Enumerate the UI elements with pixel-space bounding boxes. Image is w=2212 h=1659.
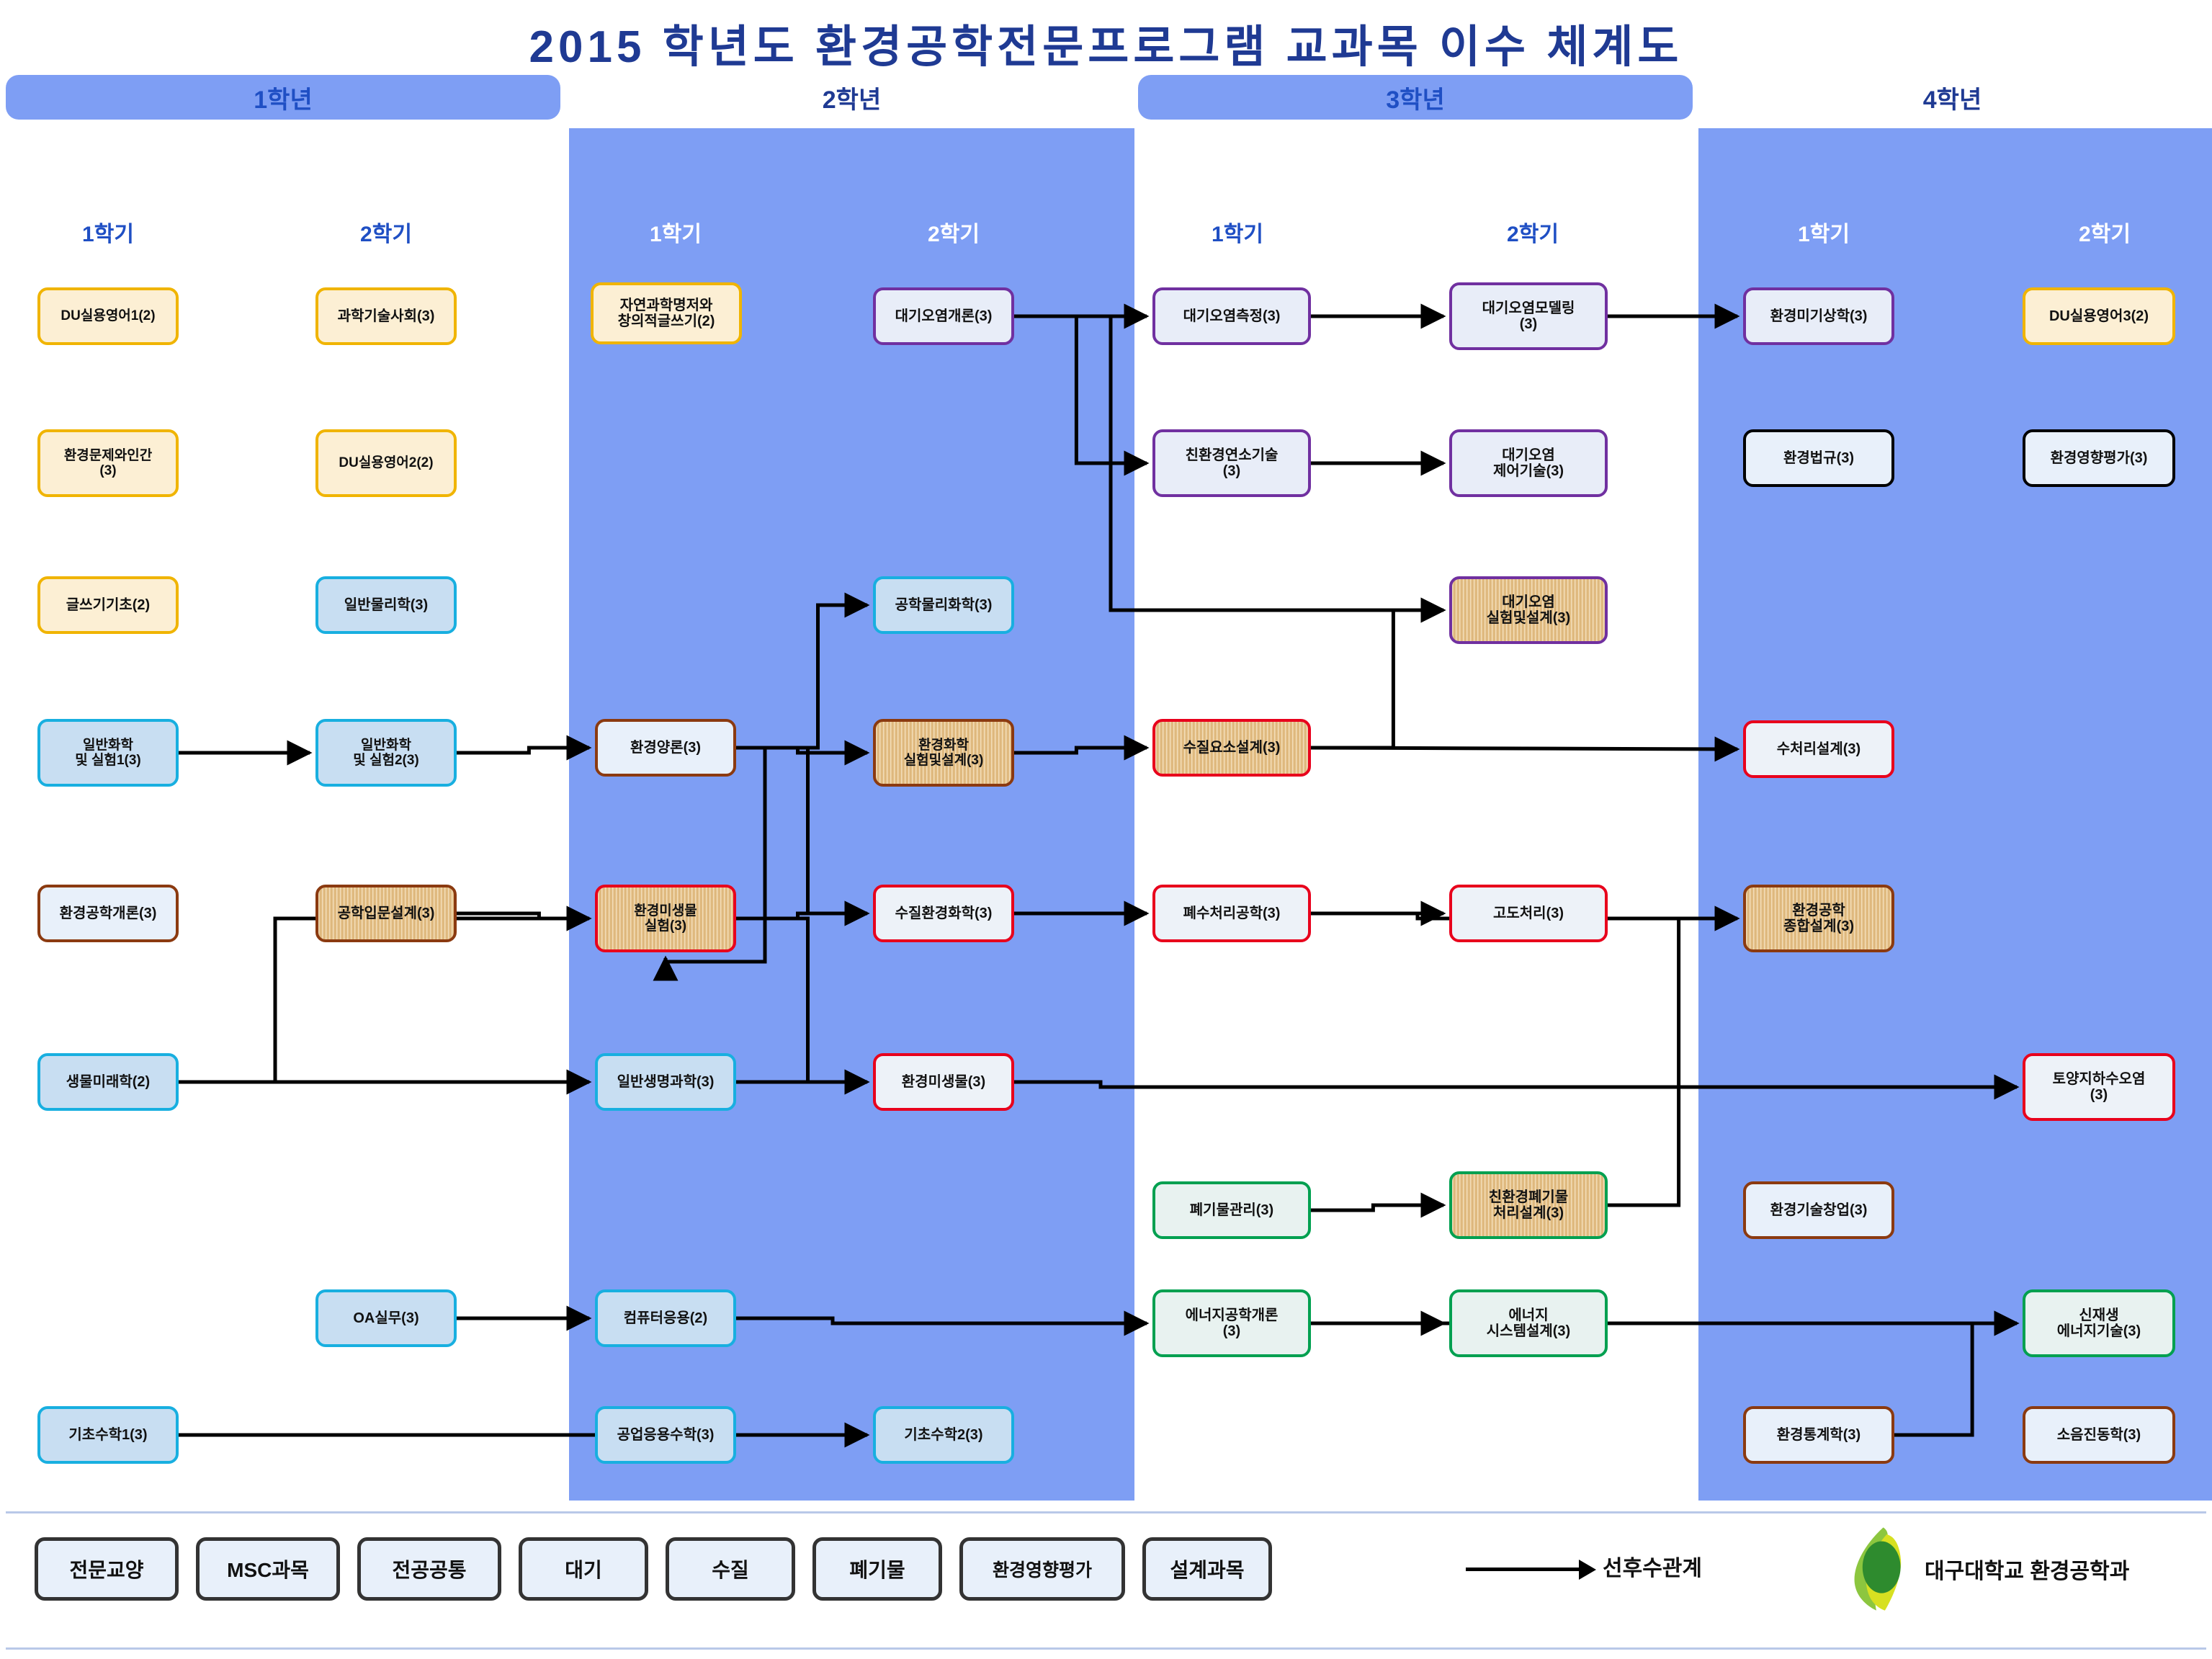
course-label: 자연과학명저와창의적글쓰기(2) bbox=[618, 298, 715, 330]
course-label: 환경통계학(3) bbox=[1777, 1427, 1861, 1443]
prereq-arrow bbox=[1014, 1082, 2017, 1087]
course-box-ecowaste[interactable]: 친환경폐기물처리설계(3) bbox=[1449, 1171, 1608, 1239]
course-box-engphyschem[interactable]: 공학물리화학(3) bbox=[873, 576, 1014, 634]
course-label: 소음진동학(3) bbox=[2057, 1427, 2141, 1443]
prereq-arrow bbox=[1014, 748, 1147, 753]
course-box-waterchem[interactable]: 수질환경화학(3) bbox=[873, 885, 1014, 942]
course-label: 환경미생물실험(3) bbox=[634, 903, 697, 934]
course-label: 신재생에너지기술(3) bbox=[2057, 1307, 2141, 1340]
course-label: DU실용영어2(2) bbox=[339, 455, 433, 470]
course-label: 폐기물관리(3) bbox=[1190, 1202, 1273, 1218]
course-label: 일반화학및 실험1(3) bbox=[75, 738, 141, 769]
course-box-airintro[interactable]: 대기오염개론(3) bbox=[873, 287, 1014, 345]
course-label: 환경화학실험및설계(3) bbox=[904, 738, 984, 769]
course-label: 일반생명과학(3) bbox=[617, 1074, 715, 1090]
course-box-genchem1[interactable]: 일반화학및 실험1(3) bbox=[37, 719, 179, 787]
prereq-arrow bbox=[1608, 918, 1737, 1205]
course-box-energyintro[interactable]: 에너지공학개론(3) bbox=[1152, 1289, 1311, 1357]
course-label: 글쓰기기초(2) bbox=[66, 597, 150, 613]
course-box-ecocomb[interactable]: 친환경연소기술(3) bbox=[1152, 429, 1311, 497]
course-label: 대기오염제어기술(3) bbox=[1493, 447, 1564, 480]
course-box-advtreat[interactable]: 고도처리(3) bbox=[1449, 885, 1608, 942]
prereq-arrow bbox=[457, 748, 589, 753]
course-box-aircontrol[interactable]: 대기오염제어기술(3) bbox=[1449, 429, 1608, 497]
course-box-envhuman[interactable]: 환경문제와인간(3) bbox=[37, 429, 179, 497]
curriculum-flowchart: 2015 학년도 환경공학전문프로그램 교과목 이수 체계도 1학년 2학년 3… bbox=[0, 0, 2212, 1659]
course-label: 환경미생물(3) bbox=[902, 1074, 985, 1090]
course-box-capstone[interactable]: 환경공학종합설계(3) bbox=[1743, 885, 1894, 952]
course-label: 에너지공학개론(3) bbox=[1186, 1307, 1279, 1340]
course-label: 친환경폐기물처리설계(3) bbox=[1489, 1189, 1568, 1222]
course-label: 친환경연소기술(3) bbox=[1186, 447, 1279, 480]
course-box-startup[interactable]: 환경기술창업(3) bbox=[1743, 1181, 1894, 1239]
course-label: 에너지시스템설계(3) bbox=[1487, 1307, 1570, 1340]
course-box-computer[interactable]: 컴퓨터응용(2) bbox=[595, 1289, 736, 1347]
course-label: 토양지하수오염(3) bbox=[2053, 1071, 2146, 1104]
prereq-arrow bbox=[1014, 316, 1147, 463]
course-label: 환경공학종합설계(3) bbox=[1783, 903, 1854, 935]
course-box-envmicexp[interactable]: 환경미생물실험(3) bbox=[595, 885, 736, 952]
course-label: 환경영향평가(3) bbox=[2051, 450, 2148, 466]
course-box-genchem2[interactable]: 일반화학및 실험2(3) bbox=[315, 719, 457, 787]
prereq-arrow bbox=[179, 918, 589, 1082]
course-box-soilgw[interactable]: 토양지하수오염(3) bbox=[2023, 1053, 2175, 1121]
course-box-du3[interactable]: DU실용영어3(2) bbox=[2023, 287, 2175, 345]
course-box-envstat[interactable]: 환경통계학(3) bbox=[1743, 1406, 1894, 1464]
course-box-envchemexp[interactable]: 환경화학실험및설계(3) bbox=[873, 719, 1014, 787]
prereq-arrow bbox=[736, 748, 867, 913]
course-box-basicmath2[interactable]: 기초수학2(3) bbox=[873, 1406, 1014, 1464]
course-label: 기초수학1(3) bbox=[68, 1427, 147, 1443]
course-label: 수처리설계(3) bbox=[1777, 741, 1861, 757]
course-label: 환경공학개론(3) bbox=[60, 905, 157, 921]
course-box-wastemgmt[interactable]: 폐기물관리(3) bbox=[1152, 1181, 1311, 1239]
course-box-wastewater[interactable]: 폐수처리공학(3) bbox=[1152, 885, 1311, 942]
course-label: 기초수학2(3) bbox=[904, 1427, 982, 1443]
prereq-arrow bbox=[736, 918, 867, 1082]
course-label: 대기오염실험및설계(3) bbox=[1487, 594, 1570, 627]
course-box-basicmath1[interactable]: 기초수학1(3) bbox=[37, 1406, 179, 1464]
course-box-renewable[interactable]: 신재생에너지기술(3) bbox=[2023, 1289, 2175, 1357]
course-box-eia[interactable]: 환경영향평가(3) bbox=[2023, 429, 2175, 487]
course-box-oa[interactable]: OA실무(3) bbox=[315, 1289, 457, 1347]
prereq-arrow bbox=[736, 605, 867, 748]
course-label: 공학물리화학(3) bbox=[895, 597, 993, 613]
course-label: 일반물리학(3) bbox=[344, 597, 428, 613]
course-label: 환경기술창업(3) bbox=[1770, 1202, 1868, 1218]
course-label: 대기오염측정(3) bbox=[1183, 308, 1281, 324]
course-label: 환경양론(3) bbox=[630, 740, 701, 756]
course-label: DU실용영어1(2) bbox=[61, 308, 155, 323]
prereq-arrow bbox=[1311, 1205, 1443, 1210]
course-box-airmeasure[interactable]: 대기오염측정(3) bbox=[1152, 287, 1311, 345]
course-label: 고도처리(3) bbox=[1493, 905, 1564, 921]
course-label: 대기오염개론(3) bbox=[895, 308, 993, 324]
course-label: 폐수처리공학(3) bbox=[1183, 905, 1281, 921]
course-label: 환경법규(3) bbox=[1783, 450, 1854, 466]
course-label: 수질환경화학(3) bbox=[895, 905, 993, 921]
course-box-micromet[interactable]: 환경미기상학(3) bbox=[1743, 287, 1894, 345]
course-box-airmodel[interactable]: 대기오염모델링(3) bbox=[1449, 282, 1608, 350]
course-label: 공학입문설계(3) bbox=[338, 905, 435, 921]
prereq-arrow bbox=[1311, 748, 1737, 749]
course-box-writing[interactable]: 글쓰기기초(2) bbox=[37, 576, 179, 634]
course-label: 환경미기상학(3) bbox=[1770, 308, 1868, 324]
course-label: 생물미래학(2) bbox=[66, 1074, 150, 1090]
course-box-engdesign[interactable]: 공학입문설계(3) bbox=[315, 885, 457, 942]
course-label: 일반화학및 실험2(3) bbox=[353, 738, 419, 769]
course-box-envmicro[interactable]: 환경미생물(3) bbox=[873, 1053, 1014, 1111]
prereq-arrow bbox=[1311, 610, 1443, 748]
prereq-arrow bbox=[736, 1318, 1147, 1323]
course-box-airexp[interactable]: 대기오염실험및설계(3) bbox=[1449, 576, 1608, 644]
course-box-ecology[interactable]: 환경양론(3) bbox=[595, 719, 736, 777]
course-label: 컴퓨터응용(2) bbox=[624, 1310, 707, 1326]
course-box-appmath[interactable]: 공업응용수학(3) bbox=[595, 1406, 736, 1464]
course-label: 환경문제와인간(3) bbox=[64, 448, 152, 479]
course-box-du2[interactable]: DU실용영어2(2) bbox=[315, 429, 457, 497]
course-label: 공업응용수학(3) bbox=[617, 1427, 715, 1443]
course-label: 수질요소설계(3) bbox=[1183, 740, 1281, 756]
course-box-biofuture[interactable]: 생물미래학(2) bbox=[37, 1053, 179, 1111]
course-box-energysys[interactable]: 에너지시스템설계(3) bbox=[1449, 1289, 1608, 1357]
course-box-envintro[interactable]: 환경공학개론(3) bbox=[37, 885, 179, 942]
course-label: 대기오염모델링(3) bbox=[1482, 300, 1575, 333]
course-label: OA실무(3) bbox=[353, 1310, 418, 1326]
course-box-waterelem[interactable]: 수질요소설계(3) bbox=[1152, 719, 1311, 777]
prereq-arrow bbox=[1894, 1323, 2017, 1435]
course-box-sciwrite[interactable]: 자연과학명저와창의적글쓰기(2) bbox=[591, 282, 742, 344]
course-box-envlaw[interactable]: 환경법규(3) bbox=[1743, 429, 1894, 487]
course-label: DU실용영어3(2) bbox=[2049, 308, 2149, 324]
course-box-waterdesign[interactable]: 수처리설계(3) bbox=[1743, 720, 1894, 778]
course-box-scitech[interactable]: 과학기술사회(3) bbox=[315, 287, 457, 345]
course-box-genlifesci[interactable]: 일반생명과학(3) bbox=[595, 1053, 736, 1111]
course-box-genphys[interactable]: 일반물리학(3) bbox=[315, 576, 457, 634]
course-box-noisevib[interactable]: 소음진동학(3) bbox=[2023, 1406, 2175, 1464]
course-label: 과학기술사회(3) bbox=[338, 308, 435, 324]
course-box-du1[interactable]: DU실용영어1(2) bbox=[37, 287, 179, 345]
